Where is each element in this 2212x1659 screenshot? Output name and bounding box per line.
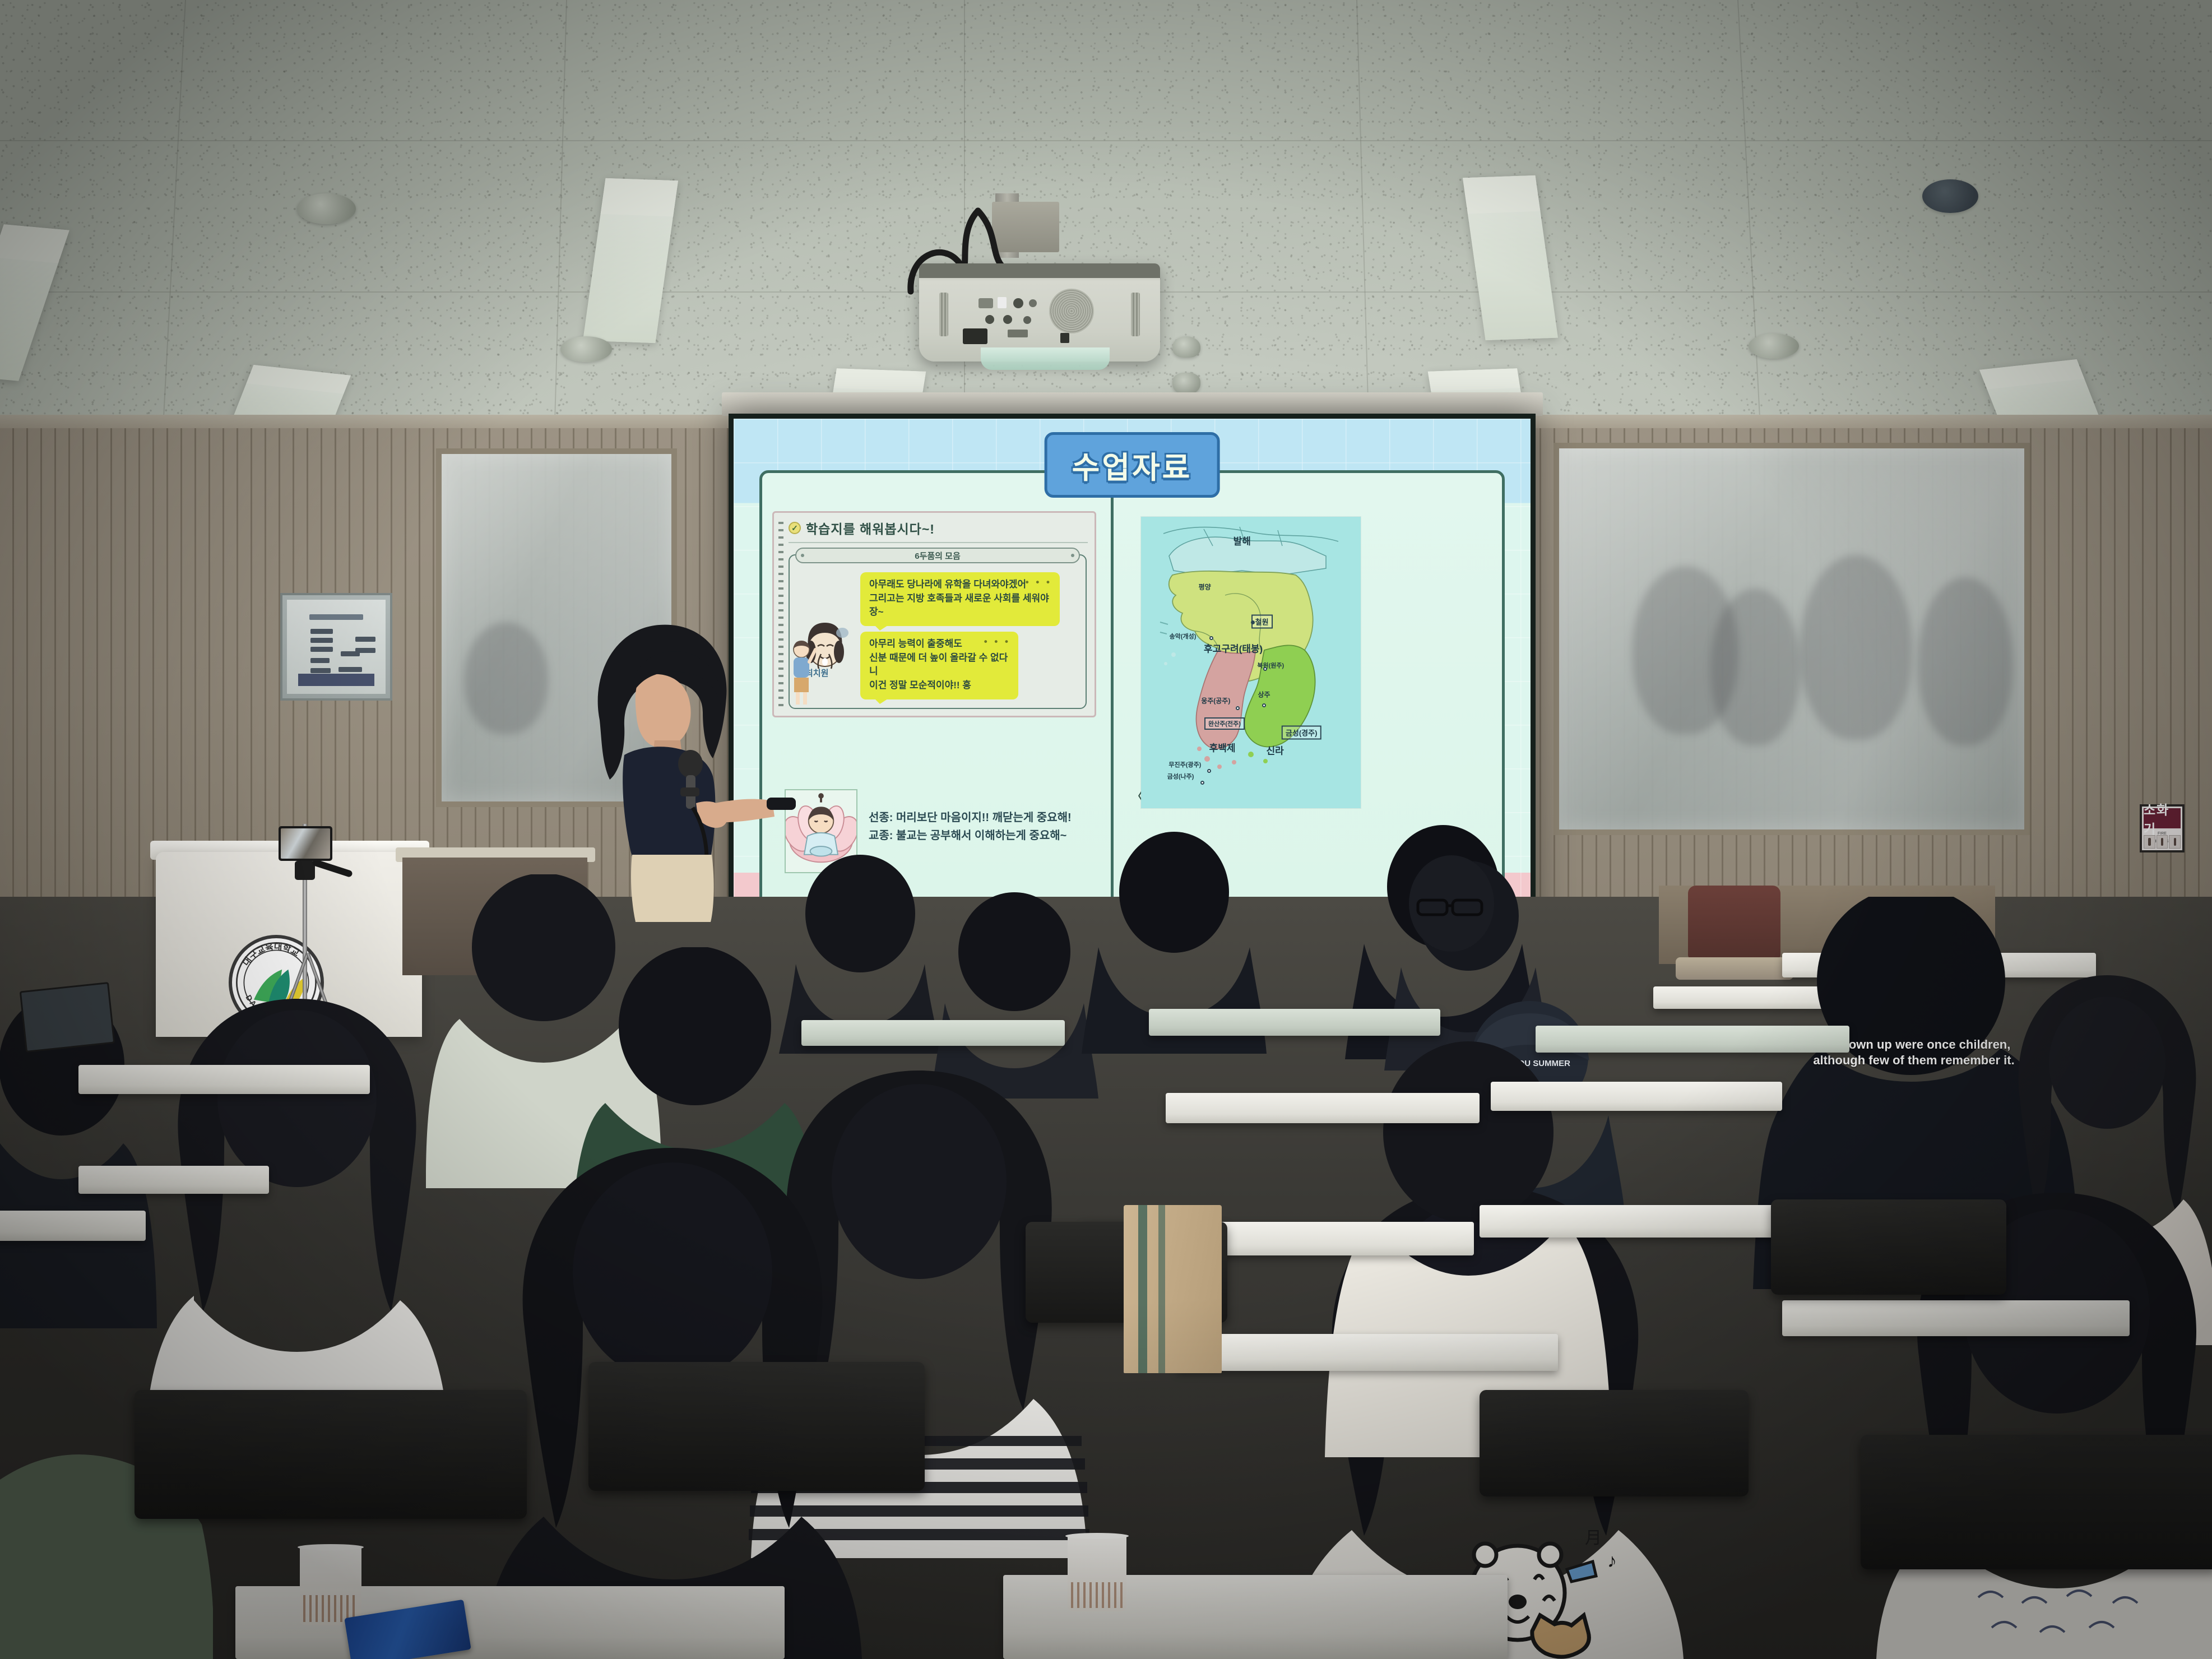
worksheet-rule	[789, 542, 1088, 543]
worksheet-notebook: ✓ 학습지를 해워봅시다~! 6두품의 모음	[772, 511, 1096, 717]
speech-bubble: • • • 아무래도 당나라에 유학을 다녀와야겠어 그리고는 지방 호족들과 …	[860, 572, 1060, 626]
poster-line	[310, 629, 333, 634]
chair	[135, 1390, 527, 1519]
worksheet-header: 학습지를 해워봅시다~!	[806, 518, 935, 537]
bubble-line: 이건 정말 모순적이야!! 흥	[869, 679, 1009, 693]
student-desk	[1149, 1009, 1440, 1036]
worksheet-tab-label: 6두품의 모음	[795, 548, 1080, 563]
bubble-line: 그리고는 지방 호족들과 새로운 사회를 세워야장~	[869, 592, 1051, 619]
phone-screen	[281, 828, 330, 859]
map-city-dot	[1209, 636, 1213, 640]
map-region-label: 상주	[1258, 690, 1270, 699]
student-desk	[78, 1065, 370, 1094]
student-desk	[1166, 1093, 1480, 1123]
check-icon: ✓	[789, 522, 801, 534]
laptop[interactable]	[20, 982, 115, 1053]
chair	[1480, 1390, 1749, 1496]
ceiling	[0, 0, 2212, 432]
bubble-dots: • • •	[984, 635, 1010, 649]
lecture-hall-photo: 소화기 FIRE EXTINGUISHER ✓ 학습지를 해워봅시다~!	[0, 0, 2212, 1659]
ceiling-projector	[919, 263, 1160, 362]
map-city-dot	[1262, 703, 1266, 707]
paper-shopping-bag[interactable]	[1124, 1205, 1222, 1373]
student-desk	[1491, 1082, 1782, 1111]
chair	[1861, 1435, 2212, 1569]
frosted-glass-window-right	[1553, 443, 2030, 835]
poster-line	[310, 668, 331, 673]
poster-line	[338, 667, 362, 672]
poster-line	[310, 638, 333, 643]
paper-cup[interactable]	[1068, 1536, 1126, 1611]
ceiling-sprinkler-icon	[560, 336, 612, 362]
student-desk	[801, 1020, 1065, 1046]
wall-framed-poster	[280, 593, 392, 701]
bubble-line: 신분 때문에 더 높이 올라갈 수 없다니	[869, 651, 1009, 679]
student-desk	[1177, 1334, 1558, 1371]
paper-cup[interactable]	[300, 1547, 361, 1625]
screen-roller	[722, 392, 1543, 416]
fire-sign-title: 소화기	[2144, 808, 2181, 828]
student-desk	[1782, 1300, 2130, 1336]
ceiling-small-speaker-icon	[1172, 336, 1200, 358]
student-desk	[0, 1211, 146, 1241]
map-region-label: 후백제	[1209, 740, 1236, 754]
map-region-label: 발해	[1233, 533, 1251, 547]
poster-title-bar	[309, 614, 363, 620]
map-region-label: 웅주(공주)	[1201, 696, 1230, 705]
map-city-dot	[1251, 620, 1255, 624]
poster-line	[355, 637, 375, 642]
ceiling-vent-icon	[1922, 179, 1978, 213]
svg-text:月: 月	[1585, 1529, 1602, 1547]
fire-extinguisher-sign: 소화기 FIRE EXTINGUISHER	[2140, 804, 2185, 852]
silhouette-blob	[1918, 577, 2013, 745]
audience-member	[140, 964, 454, 1446]
chair	[588, 1362, 925, 1491]
map-region-label: 신라	[1266, 743, 1283, 757]
poster-line	[310, 647, 333, 652]
smartphone-camera[interactable]	[279, 826, 332, 861]
audience-member-with-glasses	[1390, 852, 1513, 998]
map-region-label: 북원(원주)	[1257, 661, 1284, 670]
fire-sign-pictograms	[2144, 835, 2181, 849]
chair	[1771, 1199, 2006, 1295]
map-region-label: 금성(나주)	[1167, 772, 1194, 781]
silhouette-blob	[1800, 555, 1912, 740]
map-city-dot	[1200, 781, 1204, 785]
bubble-dots: • • •	[1026, 576, 1052, 590]
map-region-label: 후고구려(태봉)	[1204, 641, 1263, 655]
map-city-dot	[1236, 706, 1240, 710]
map-region-label: 금성(경주)	[1282, 725, 1321, 739]
bubble-line: 아무래도 당나라에 유학을 다녀와야겠어	[869, 578, 1051, 592]
ceiling-small-speaker-icon	[1172, 373, 1200, 395]
slide-title: 수업자료	[1045, 432, 1220, 498]
worksheet-inner-box: 6두품의 모음	[789, 554, 1087, 709]
map-region-label: 완산주(전주)	[1204, 717, 1245, 730]
student-desk	[78, 1166, 269, 1194]
inner-tab-text: 6두품의 모음	[915, 550, 961, 562]
map-city-dot	[1207, 769, 1211, 773]
poster-line	[355, 648, 375, 653]
poster-line	[310, 658, 330, 663]
ceiling-speaker-icon	[297, 193, 356, 224]
later-three-kingdoms-map: 발해평양철원송악(개성)후고구려(태봉)북원(원주)웅주(공주)상주완산주(전주…	[1141, 517, 1361, 808]
silhouette-blob	[1710, 588, 1800, 745]
map-region-label: 무진주(광주)	[1168, 760, 1201, 769]
student-desk	[1536, 1026, 1849, 1053]
map-city-dot	[1263, 667, 1267, 671]
ceiling-sprinkler-icon	[1749, 333, 1799, 359]
map-region-label: 평양	[1199, 582, 1211, 591]
ceiling-grid-line	[0, 140, 2212, 141]
speech-bubble: • • • 아무리 능력이 출중해도 신분 때문에 더 높이 올라갈 수 없다니…	[860, 632, 1018, 699]
map-region-label: 송악(개성)	[1170, 632, 1197, 641]
svg-text:♪: ♪	[1607, 1550, 1617, 1572]
